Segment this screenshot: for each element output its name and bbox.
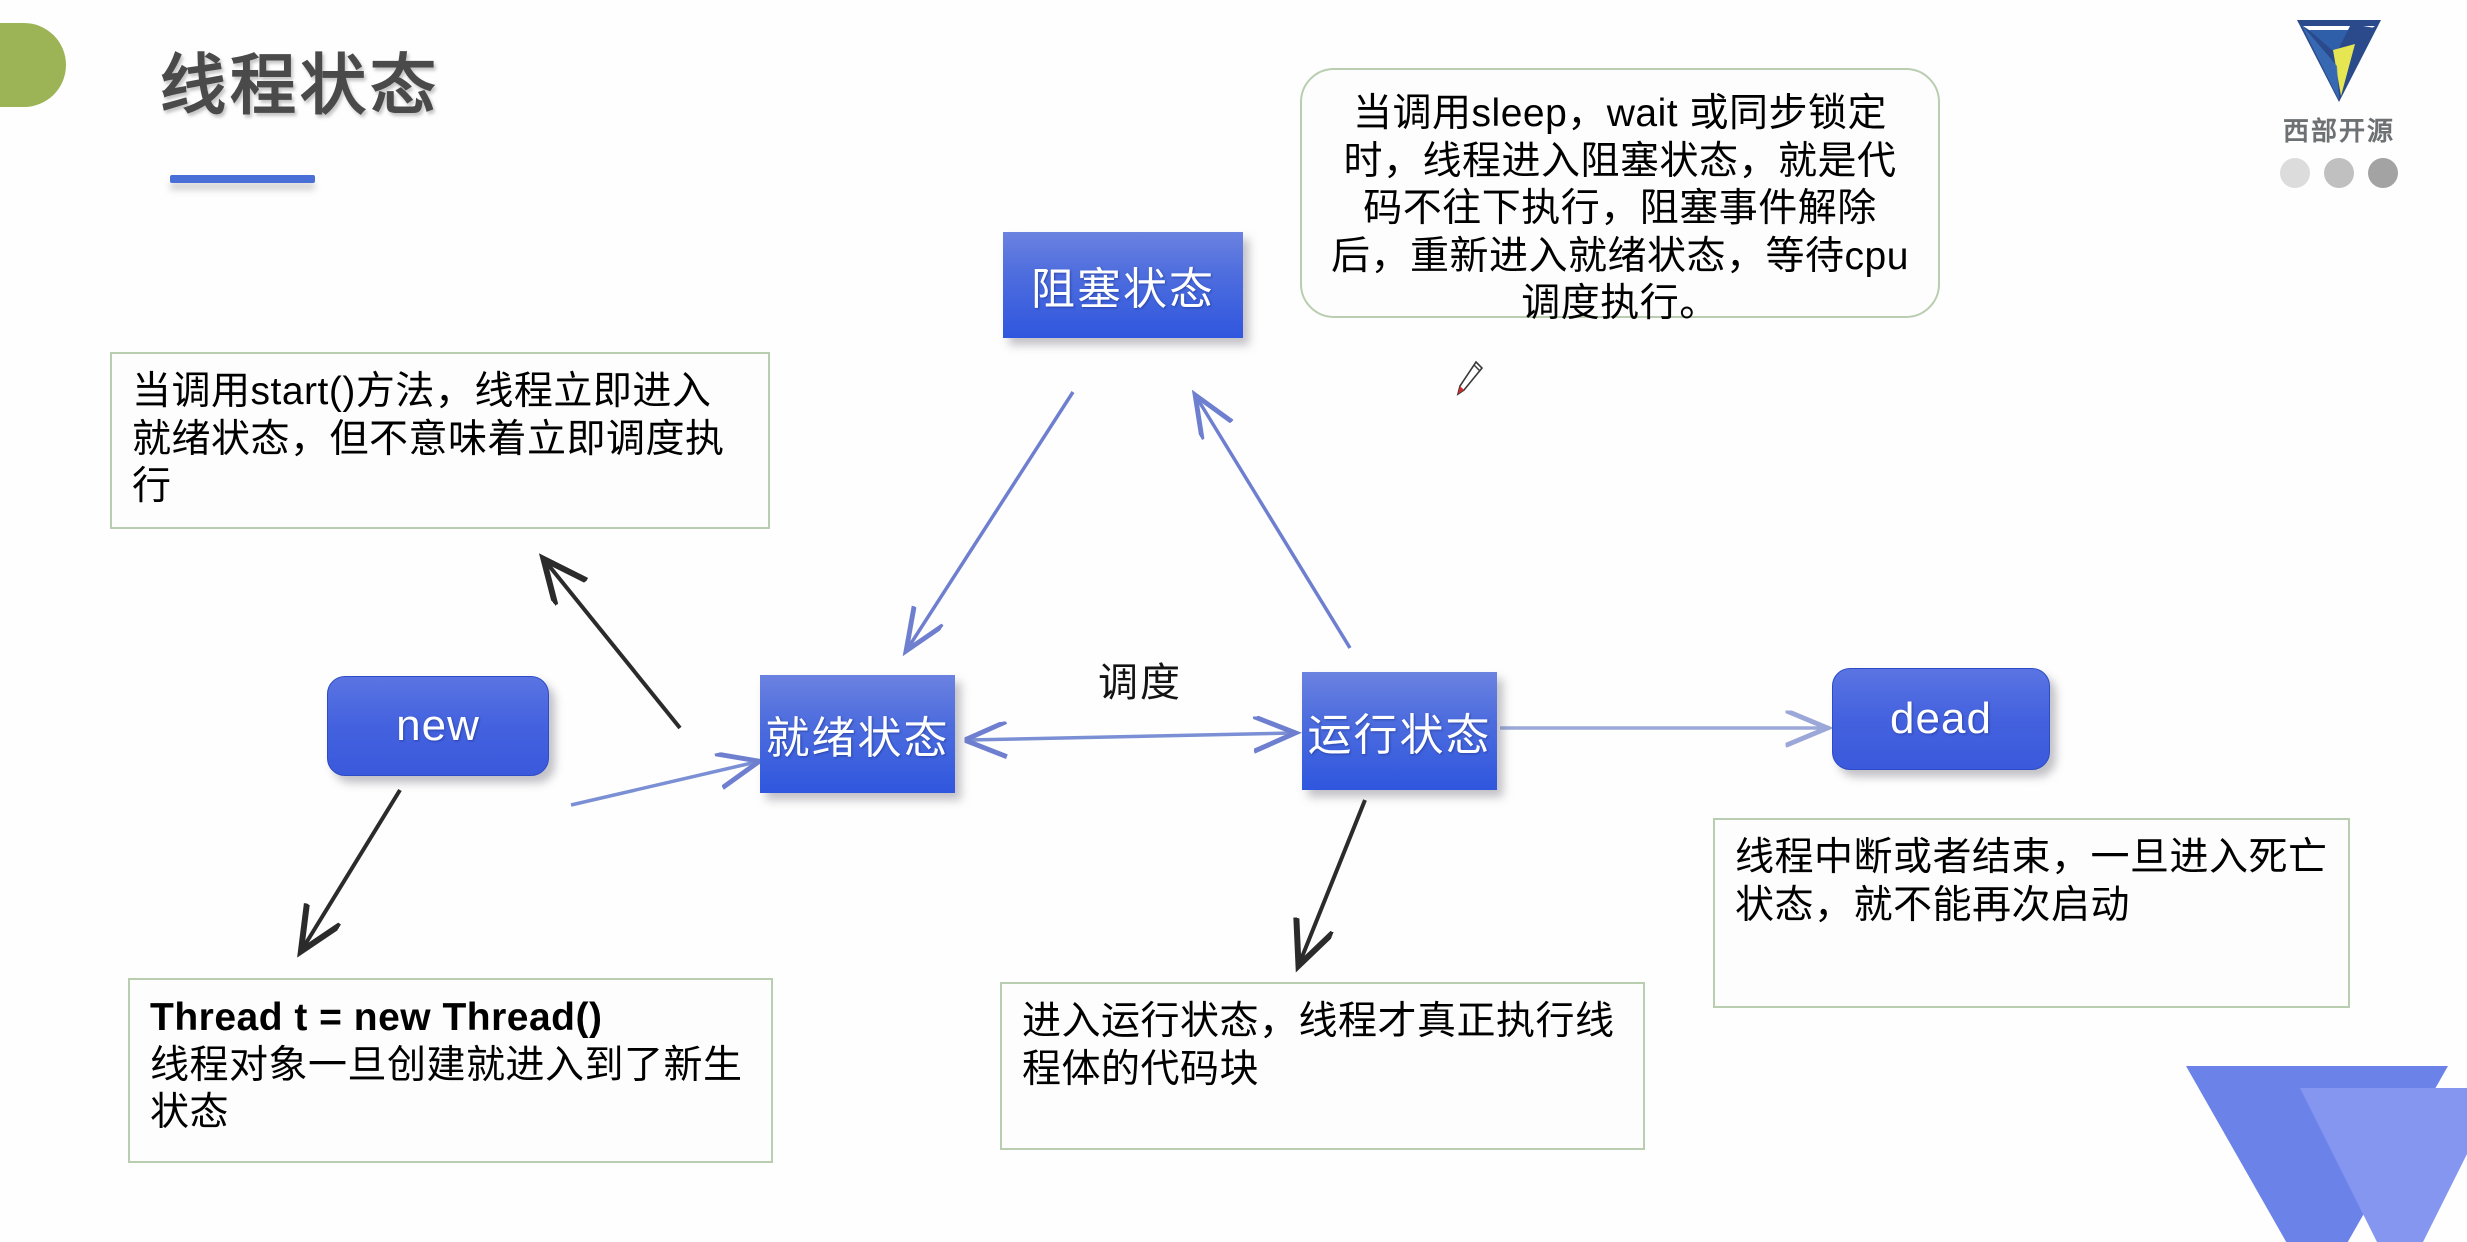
edge-ready-to-start-note (546, 562, 680, 728)
slide-canvas: 线程状态 西部开源 (0, 0, 2467, 1242)
state-node-blocked[interactable]: 阻塞状态 (1003, 232, 1243, 338)
note-blocked-state: 当调用sleep，wait 或同步锁定时，线程进入阻塞状态，就是代码不往下执行，… (1300, 68, 1940, 318)
edge-blocked-to-ready (908, 392, 1073, 648)
edge-ready-running (968, 733, 1292, 740)
state-node-new-label: new (396, 701, 480, 751)
state-node-ready-label: 就绪状态 (766, 702, 950, 766)
note-start-method-text: 当调用start()方法，线程立即进入就绪状态，但不意味着立即调度执行 (132, 370, 725, 508)
state-node-blocked-label: 阻塞状态 (1031, 253, 1215, 317)
dot-2-icon (2324, 158, 2354, 188)
triangle-arrow-logo-icon (2289, 10, 2389, 110)
brand-name: 西部开源 (2239, 111, 2439, 148)
state-node-running[interactable]: 运行状态 (1302, 672, 1497, 790)
edge-new-to-thread-note (303, 790, 400, 948)
note-thread-creation: Thread t = new Thread() 线程对象一旦创建就进入到了新生状… (128, 978, 773, 1163)
page-title: 线程状态 (160, 32, 440, 128)
logo-dots (2239, 158, 2439, 188)
dot-1-icon (2280, 158, 2310, 188)
edge-running-to-blocked (1197, 398, 1350, 648)
state-node-dead-label: dead (1890, 694, 1992, 744)
state-node-running-label: 运行状态 (1308, 699, 1492, 763)
note-running-state: 进入运行状态，线程才真正执行线程体的代码块 (1000, 982, 1645, 1150)
green-pill-decoration (0, 23, 66, 107)
edge-new-to-ready (571, 762, 756, 805)
state-node-dead[interactable]: dead (1832, 668, 2050, 770)
pen-cursor-icon (1454, 360, 1484, 396)
state-node-new[interactable]: new (327, 676, 549, 776)
note-start-method: 当调用start()方法，线程立即进入就绪状态，但不意味着立即调度执行 (110, 352, 770, 529)
brand-logo: 西部开源 (2239, 8, 2439, 218)
state-node-ready[interactable]: 就绪状态 (760, 675, 955, 793)
note-blocked-state-text: 当调用sleep，wait 或同步锁定时，线程进入阻塞状态，就是代码不往下执行，… (1331, 92, 1909, 325)
edge-label-schedule: 调度 (1098, 650, 1182, 708)
dot-3-icon (2368, 158, 2398, 188)
note-dead-state: 线程中断或者结束，一旦进入死亡状态，就不能再次启动 (1713, 818, 2350, 1008)
edge-running-to-running-note (1300, 800, 1365, 962)
note-thread-creation-code: Thread t = new Thread() (150, 996, 602, 1039)
corner-triangle-light (2300, 1088, 2467, 1242)
note-dead-state-text: 线程中断或者结束，一旦进入死亡状态，就不能再次启动 (1735, 836, 2328, 927)
note-thread-creation-text: 线程对象一旦创建就进入到了新生状态 (150, 1044, 743, 1135)
title-underline (170, 175, 315, 183)
note-running-state-text: 进入运行状态，线程才真正执行线程体的代码块 (1022, 1000, 1615, 1091)
